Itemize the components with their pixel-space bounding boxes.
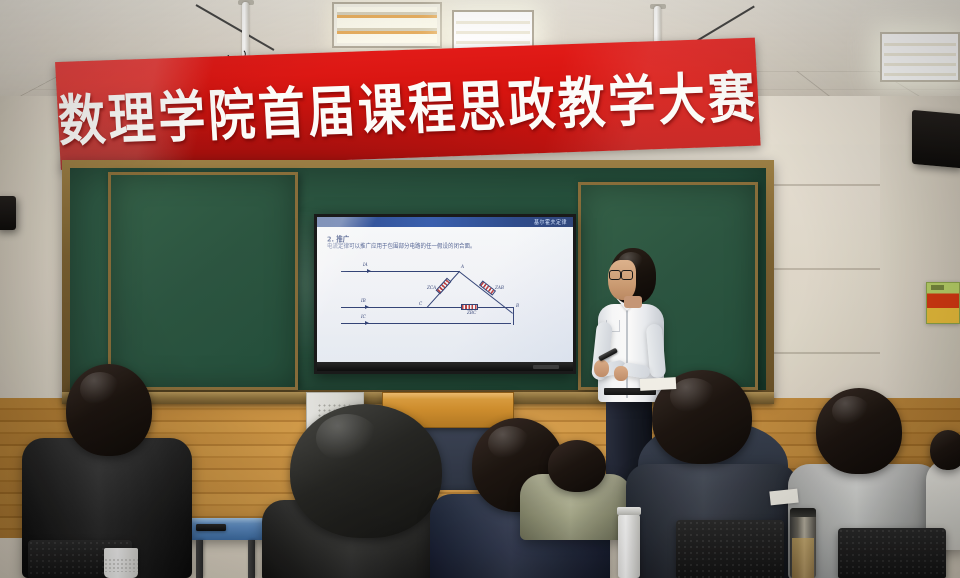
circuit-label-zbc: ZBC [467, 310, 476, 315]
ceiling-light-panel-1 [332, 2, 442, 48]
vacuum-flask[interactable] [790, 508, 816, 578]
circuit-label-zab: ZAB [495, 285, 504, 290]
presenter-shirt-placket [626, 308, 628, 398]
circuit-arrow-ic [365, 321, 369, 325]
circuit-wire-b-down [513, 307, 514, 325]
audience-4-head [548, 440, 606, 492]
presenter-hand-left [594, 360, 609, 377]
circuit-label-zca: ZCA [427, 285, 436, 290]
chair-center[interactable] [676, 520, 784, 578]
wall-sign-header [931, 285, 944, 290]
chair-right[interactable] [838, 528, 946, 578]
ceiling-light-panel-3 [880, 32, 960, 82]
audience-2-head [290, 404, 442, 538]
banner-title-text: 数理学院首届课程思政教学大赛 [56, 51, 760, 157]
classroom-photo-scene: 数理学院首届课程思政教学大赛 基尔霍夫定律 2. 推广 电流定律可以推广应用于包… [0, 0, 960, 578]
circuit-label-ia: IA [363, 262, 368, 267]
slide-body-text: 电流定律可以推广应用于包围部分电路的任一假设的闭合面。 [327, 242, 476, 251]
wall-notice-sign [926, 282, 960, 324]
blackboard-sliding-panel-left[interactable] [108, 172, 298, 390]
wall-speaker-right [912, 110, 960, 168]
audience-1-hair-highlight [80, 372, 120, 406]
audience-6-head [816, 388, 902, 474]
screen-control-strip[interactable] [533, 365, 559, 369]
circuit-arrow-ia [367, 269, 371, 273]
circuit-label-ic: IC [361, 314, 366, 319]
paper-cup[interactable] [104, 548, 138, 578]
water-bottle-cap [617, 507, 641, 515]
circuit-node-b: B [516, 303, 519, 308]
audience-6-hair-highlight [832, 396, 870, 426]
water-bottle[interactable] [618, 514, 640, 578]
circuit-wire-ia [341, 271, 459, 272]
desk-leg-b [248, 540, 255, 578]
audience-5-hair-highlight [670, 378, 716, 414]
circuit-label-ib: IB [361, 298, 366, 303]
presentation-slide: 基尔霍夫定律 2. 推广 电流定律可以推广应用于包围部分电路的任一假设的闭合面。… [317, 217, 573, 371]
vacuum-flask-cap [790, 508, 816, 517]
presenter-hand-right [614, 366, 628, 381]
circuit-diagram: IA IB IC ZCA ZAB ZBC [323, 255, 553, 341]
circuit-node-a: A [461, 264, 464, 269]
slide-header-title: 基尔霍夫定律 [534, 218, 573, 226]
vacuum-flask-label [792, 538, 814, 578]
projection-screen[interactable]: 基尔霍夫定律 2. 推广 电流定律可以推广应用于包围部分电路的任一假设的闭合面。… [314, 214, 576, 374]
lectern-top-edge [383, 393, 513, 400]
handout-paper[interactable] [769, 489, 798, 506]
audience-1-head [66, 364, 152, 456]
handout-paper-right[interactable] [640, 377, 677, 391]
presenter-glasses [609, 270, 633, 279]
screen-bottom-bezel [317, 362, 573, 371]
slide-header-bar: 基尔霍夫定律 [317, 217, 573, 227]
circuit-node-c: C [419, 301, 422, 306]
presenter-face [608, 260, 636, 300]
circuit-arrow-ib [365, 305, 369, 309]
audience-7-head [930, 430, 960, 470]
paper-cup-texture [104, 558, 138, 572]
wall-speaker-left [0, 196, 16, 230]
audience-2-hair-highlight [316, 414, 378, 462]
circuit-impedance-zca [436, 278, 452, 295]
presenter-neck [624, 296, 642, 308]
